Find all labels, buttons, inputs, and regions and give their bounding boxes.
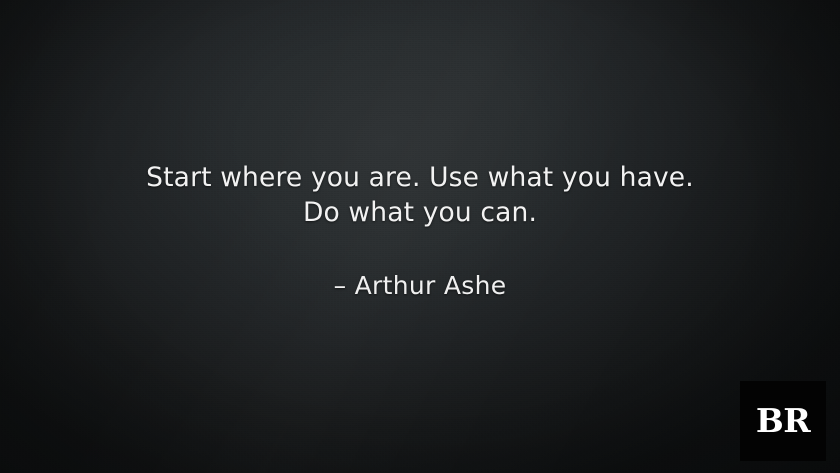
brand-logo-badge: BR: [740, 381, 826, 461]
brand-logo-initials: BR: [756, 404, 810, 437]
quote-attribution: – Arthur Ashe: [0, 269, 840, 303]
quote-text-block: Start where you are. Use what you have. …: [0, 160, 840, 230]
quote-line-1: Start where you are. Use what you have.: [0, 160, 840, 195]
background-vignette: [0, 0, 840, 473]
quote-line-2: Do what you can.: [0, 195, 840, 230]
quote-card: Start where you are. Use what you have. …: [0, 0, 840, 473]
